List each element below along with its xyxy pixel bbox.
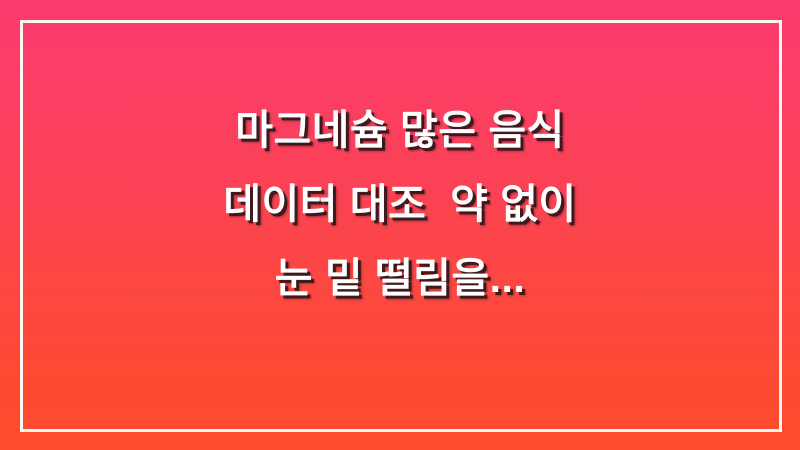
- headline-line-1: 마그네슘 많은 음식: [235, 110, 565, 151]
- headline-line-3: 눈 밑 떨림을...: [275, 258, 526, 299]
- thumbnail-canvas: 마그네슘 많은 음식 데이터 대조 약 없이 눈 밑 떨림을...: [0, 0, 800, 450]
- headline-line-2: 데이터 대조 약 없이: [223, 184, 576, 225]
- headline-text-block: 마그네슘 많은 음식 데이터 대조 약 없이 눈 밑 떨림을...: [0, 0, 800, 450]
